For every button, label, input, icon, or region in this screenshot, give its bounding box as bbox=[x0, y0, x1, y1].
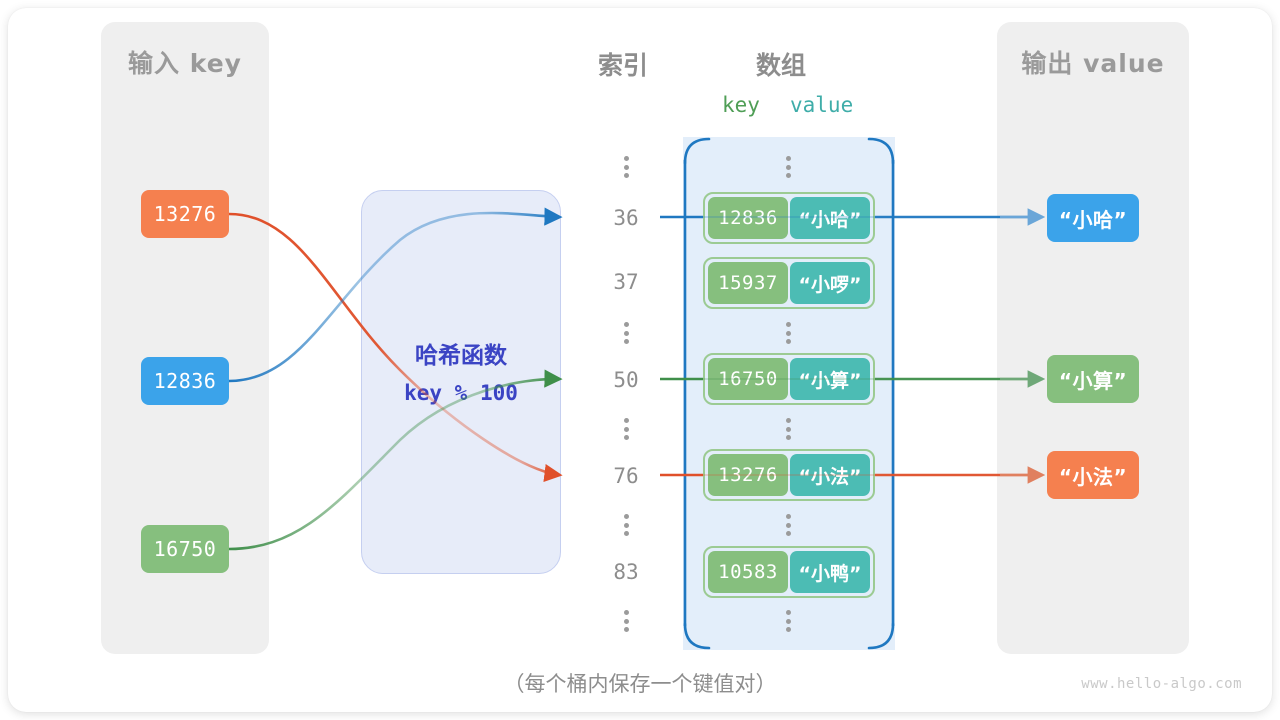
output-value-xiaofa[interactable]: “小法” bbox=[1047, 451, 1139, 499]
bucket-row[interactable]: 13276 “小法” bbox=[703, 449, 875, 501]
input-panel-title: 输入 key bbox=[101, 44, 269, 80]
bucket-value: “小算” bbox=[790, 358, 870, 400]
bucket-value: “小哈” bbox=[790, 197, 870, 239]
bucket-row[interactable]: 12836 “小哈” bbox=[703, 192, 875, 244]
bucket-key: 16750 bbox=[708, 358, 788, 400]
array-ellipsis-3 bbox=[786, 514, 792, 536]
index-label-83: 83 bbox=[596, 560, 656, 584]
index-column-header: 索引 bbox=[598, 46, 648, 82]
array-ellipsis-2 bbox=[786, 418, 792, 440]
hash-function-label: 哈希函数 bbox=[362, 336, 560, 370]
array-ellipsis-4 bbox=[786, 610, 792, 632]
index-label-76: 76 bbox=[596, 464, 656, 488]
bucket-key: 13276 bbox=[708, 454, 788, 496]
bucket-key: 12836 bbox=[708, 197, 788, 239]
index-label-37: 37 bbox=[596, 270, 656, 294]
index-ellipsis-2 bbox=[624, 418, 630, 440]
output-panel-title: 输出 value bbox=[997, 44, 1189, 80]
value-column-header: value bbox=[790, 93, 853, 117]
diagram-canvas: 输入 key 13276 12836 16750 哈希函数 key % 100 … bbox=[0, 0, 1280, 720]
array-header: 数组 bbox=[756, 46, 806, 82]
key-column-header: key bbox=[722, 93, 760, 117]
array-ellipsis-0 bbox=[786, 156, 792, 178]
bucket-row[interactable]: 10583 “小鸭” bbox=[703, 546, 875, 598]
hash-function-expression: key % 100 bbox=[362, 381, 560, 405]
input-key-16750[interactable]: 16750 bbox=[141, 525, 229, 573]
hash-function-box: 哈希函数 key % 100 bbox=[361, 190, 561, 574]
index-ellipsis-0 bbox=[624, 156, 630, 178]
input-key-12836[interactable]: 12836 bbox=[141, 357, 229, 405]
output-value-xiaosuan[interactable]: “小算” bbox=[1047, 355, 1139, 403]
index-label-36: 36 bbox=[596, 206, 656, 230]
bucket-row[interactable]: 16750 “小算” bbox=[703, 353, 875, 405]
index-ellipsis-1 bbox=[624, 322, 630, 344]
index-ellipsis-4 bbox=[624, 610, 630, 632]
index-label-50: 50 bbox=[596, 368, 656, 392]
bucket-key: 15937 bbox=[708, 262, 788, 304]
array-ellipsis-1 bbox=[786, 322, 792, 344]
bucket-value: “小鸭” bbox=[790, 551, 870, 593]
index-ellipsis-3 bbox=[624, 514, 630, 536]
bucket-value: “小啰” bbox=[790, 262, 870, 304]
output-value-xiaoha[interactable]: “小哈” bbox=[1047, 194, 1139, 242]
output-value-panel: 输出 value bbox=[997, 22, 1189, 654]
watermark: www.hello-algo.com bbox=[1081, 676, 1242, 692]
bucket-row[interactable]: 15937 “小啰” bbox=[703, 257, 875, 309]
input-key-13276[interactable]: 13276 bbox=[141, 190, 229, 238]
bucket-key: 10583 bbox=[708, 551, 788, 593]
bucket-value: “小法” bbox=[790, 454, 870, 496]
